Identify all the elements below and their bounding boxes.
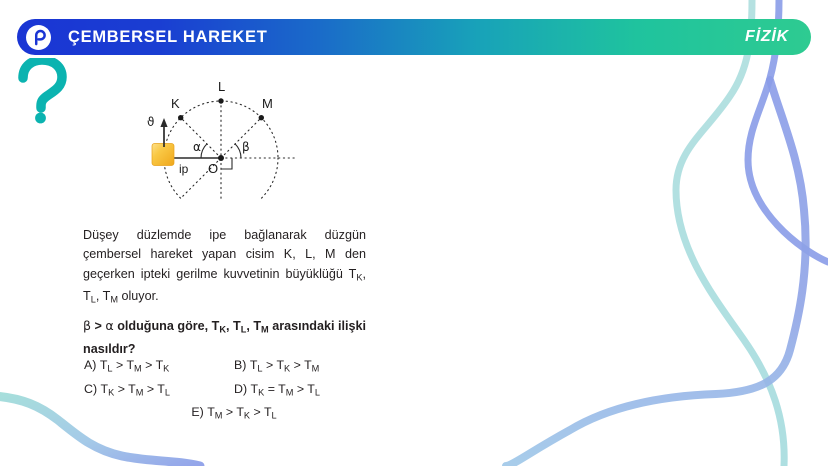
choice-e-op1: > (222, 405, 236, 419)
question-content-block: Düşey düzlemde ipe bağlanarak düzgün çem… (83, 226, 366, 359)
choice-e-label: E) (191, 405, 203, 419)
choice-row-ab: A) TL > TM > TK B) TL > TK > TM (84, 358, 384, 374)
question-statement: β > α olduğuna göre, TK, TL, TM arasında… (83, 316, 366, 359)
label-point-k: K (171, 96, 180, 111)
point-dot-o (218, 155, 224, 161)
choice-d-t2: T (278, 382, 286, 396)
question-beta: β (83, 318, 91, 333)
question-alpha: α (105, 318, 113, 333)
slide-page: ÇEMBERSEL HAREKET FİZİK (0, 0, 828, 466)
mass-block (152, 144, 174, 166)
point-dot-m (259, 115, 264, 120)
choice-c-label: C) (84, 382, 97, 396)
choice-e-t1: T (207, 405, 215, 419)
prompt-comma-1: , (363, 267, 367, 281)
choice-row-cd: C) TK > TM > TL D) TK = TM > TL (84, 382, 384, 398)
label-angle-alpha: α (193, 140, 201, 154)
choice-c-op1: > (114, 382, 128, 396)
prompt-comma-2: , (96, 289, 103, 303)
question-tm-sub: M (261, 325, 269, 335)
choice-d-op2: > (293, 382, 307, 396)
choice-option-d[interactable]: D) TK = TM > TL (234, 382, 384, 398)
label-string-ip: ip (179, 162, 189, 176)
choice-a-op1: > (113, 358, 127, 372)
prompt-text-lead: Düşey düzlemde ipe bağlanarak düzgün çem… (83, 228, 366, 281)
choice-d-label: D) (234, 382, 247, 396)
choice-d-t3: T (307, 382, 315, 396)
header-bar: ÇEMBERSEL HAREKET FİZİK (17, 19, 811, 55)
choice-e-t2: T (236, 405, 244, 419)
choice-d-s3: L (315, 387, 320, 397)
question-text-lead: olduğuna göre, (114, 319, 212, 333)
choice-a-s2: M (134, 364, 142, 374)
label-point-m: M (262, 96, 273, 111)
choice-e-t3: T (264, 405, 272, 419)
label-angle-beta: β (242, 140, 250, 154)
subject-label: FİZİK (745, 28, 789, 46)
choice-b-s3: M (312, 364, 320, 374)
velocity-arrow-head (160, 118, 167, 127)
choice-option-c[interactable]: C) TK > TM > TL (84, 382, 234, 398)
choice-b-op2: > (290, 358, 304, 372)
choice-a-op2: > (142, 358, 156, 372)
choice-b-t2: T (276, 358, 284, 372)
question-comma-1: , (226, 319, 233, 333)
answer-choices: A) TL > TM > TK B) TL > TK > TM C) TK > … (84, 358, 384, 429)
choice-a-label: A) (84, 358, 96, 372)
choice-d-t1: T (251, 382, 259, 396)
angle-arc-beta (235, 144, 241, 158)
choice-c-op2: > (143, 382, 157, 396)
choice-row-e: E) TM > TK > TL (84, 405, 384, 421)
choice-c-s3: L (165, 387, 170, 397)
choice-option-a[interactable]: A) TL > TM > TK (84, 358, 234, 374)
point-dot-k (178, 115, 183, 120)
prompt-tl: T (83, 289, 91, 303)
label-point-l: L (218, 79, 225, 94)
choice-a-t2: T (126, 358, 134, 372)
question-tm: T (253, 319, 261, 333)
choice-c-t2: T (128, 382, 136, 396)
choice-e-s3: L (272, 411, 277, 421)
prompt-text-tail: oluyor. (118, 289, 159, 303)
decor-curve-teal-right (676, 0, 784, 466)
choice-option-e[interactable]: E) TM > TK > TL (191, 405, 276, 421)
choice-b-t3: T (304, 358, 312, 372)
label-velocity: ϑ (147, 115, 154, 129)
question-mark-icon (13, 58, 71, 124)
question-gt: > (91, 319, 105, 333)
label-center-o: O (208, 161, 218, 176)
circular-motion-diagram: L K M O ip α β ϑ (130, 72, 315, 200)
decor-curve-blue-right-lower (506, 80, 806, 466)
choice-b-op1: > (263, 358, 277, 372)
choice-b-label: B) (234, 358, 246, 372)
choice-c-t3: T (157, 382, 165, 396)
point-dot-l (218, 98, 223, 103)
page-title: ÇEMBERSEL HAREKET (68, 28, 268, 47)
choice-option-b[interactable]: B) TL > TK > TM (234, 358, 384, 374)
choice-a-s3: K (163, 364, 169, 374)
choice-e-op2: > (250, 405, 264, 419)
question-tl: T (233, 319, 241, 333)
prompt-tm-sub: M (110, 295, 118, 305)
prompt-paragraph: Düşey düzlemde ipe bağlanarak düzgün çem… (83, 226, 366, 310)
paragraf-p-logo-icon (26, 25, 51, 50)
choice-d-op1: = (264, 382, 278, 396)
angle-arc-alpha (201, 144, 207, 158)
choice-c-t1: T (101, 382, 109, 396)
